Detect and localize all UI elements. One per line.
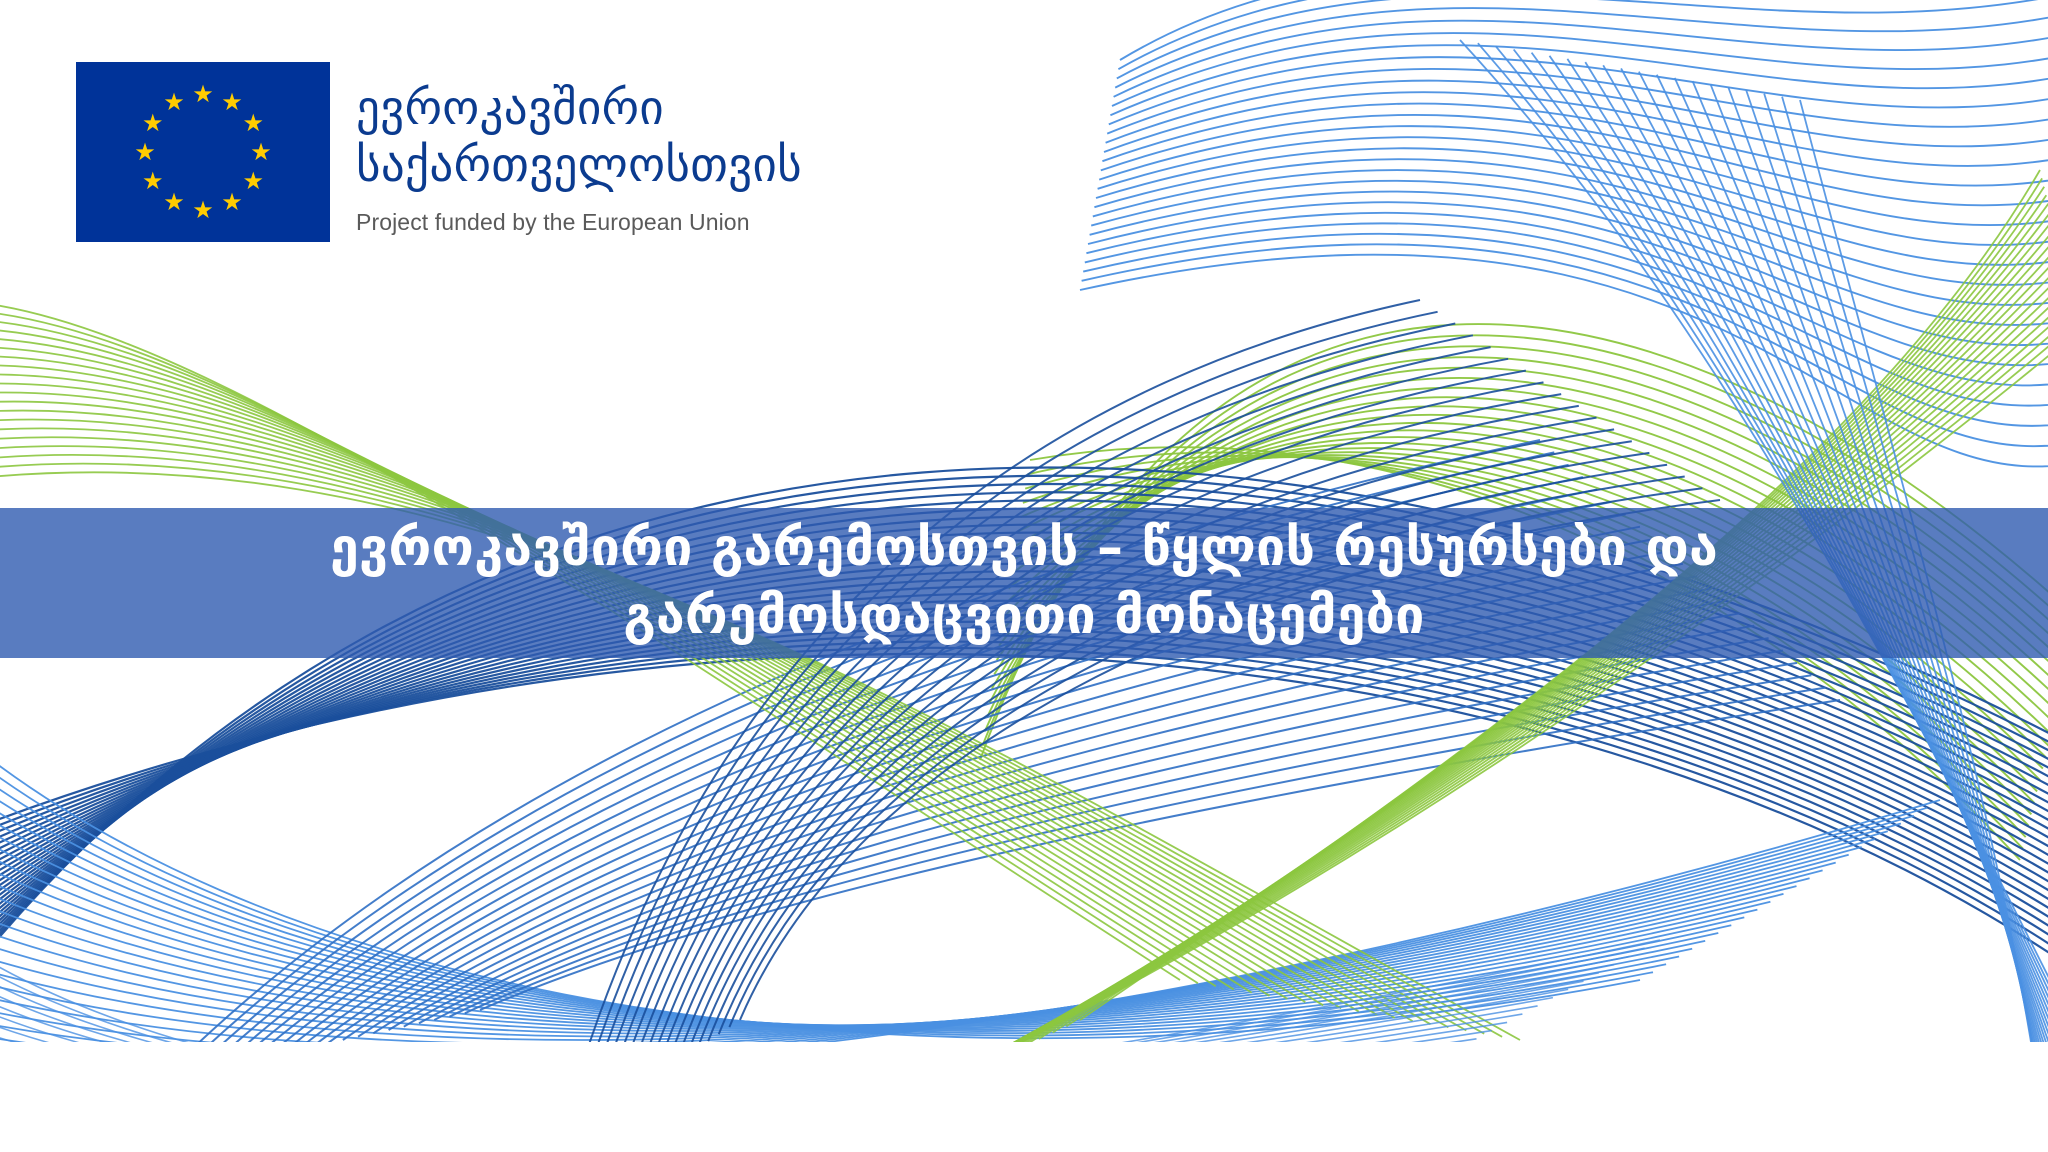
wave-line <box>1088 202 2048 365</box>
european-union-flag-icon: ★★★★★★★★★★★★ <box>76 62 330 242</box>
wave-line <box>0 730 1666 1034</box>
wave-line <box>581 324 1455 1126</box>
wave-line <box>0 715 1653 1036</box>
wave-line <box>1114 21 2048 97</box>
wave-line <box>1086 213 2048 386</box>
eu-star-icon: ★ <box>221 91 243 113</box>
wave-line <box>0 831 1888 1048</box>
wave-line <box>0 402 1377 1015</box>
wave-line <box>1120 0 2048 60</box>
eu-star-icon: ★ <box>163 91 185 113</box>
eu-star-icon: ★ <box>134 141 156 163</box>
page-title: ევროკავშირი გარემოსთვის – წყლის რესურსებ… <box>174 515 1874 650</box>
wave-line <box>1112 33 2048 106</box>
title-banner: ევროკავშირი გარემოსთვის – წყლის რესურსებ… <box>0 508 2048 658</box>
page-title-line-2: გარემოსდაცვითი მონაცემები <box>174 583 1874 651</box>
eu-logo: ★★★★★★★★★★★★ ევროკავშირი საქართველოსთვის… <box>76 62 802 242</box>
eu-logo-tagline: Project funded by the European Union <box>356 209 802 236</box>
eu-star-icon: ★ <box>142 170 164 192</box>
eu-logo-text: ევროკავშირი საქართველოსთვის Project fund… <box>356 62 802 236</box>
wave-line <box>0 800 1940 1073</box>
eu-star-icon: ★ <box>142 112 164 134</box>
eu-star-icon: ★ <box>242 112 264 134</box>
eu-logo-line-2: საქართველოსთვის <box>356 137 802 194</box>
eu-star-icon: ★ <box>250 141 272 163</box>
eu-star-icon: ★ <box>192 199 214 221</box>
wave-line <box>0 774 1705 1028</box>
wave-line <box>1101 115 2048 205</box>
eu-star-icon: ★ <box>242 170 264 192</box>
eu-logo-line-1: ევროკავშირი <box>356 80 802 137</box>
wave-line <box>1098 137 2048 245</box>
eu-star-icon: ★ <box>192 83 214 105</box>
page-title-line-1: ევროკავშირი გარემოსთვის – წყლის რესურსებ… <box>330 518 1718 578</box>
eu-star-icon: ★ <box>163 191 185 213</box>
wave-line <box>0 878 1810 1029</box>
wave-line <box>1118 0 2048 69</box>
slide-root: ★★★★★★★★★★★★ ევროკავშირი საქართველოსთვის… <box>0 0 2048 1152</box>
footer-logo-bar <box>0 1042 2048 1152</box>
wave-line <box>1083 234 2048 426</box>
wave-line <box>1096 148 2048 265</box>
eu-star-icon: ★ <box>221 191 243 213</box>
